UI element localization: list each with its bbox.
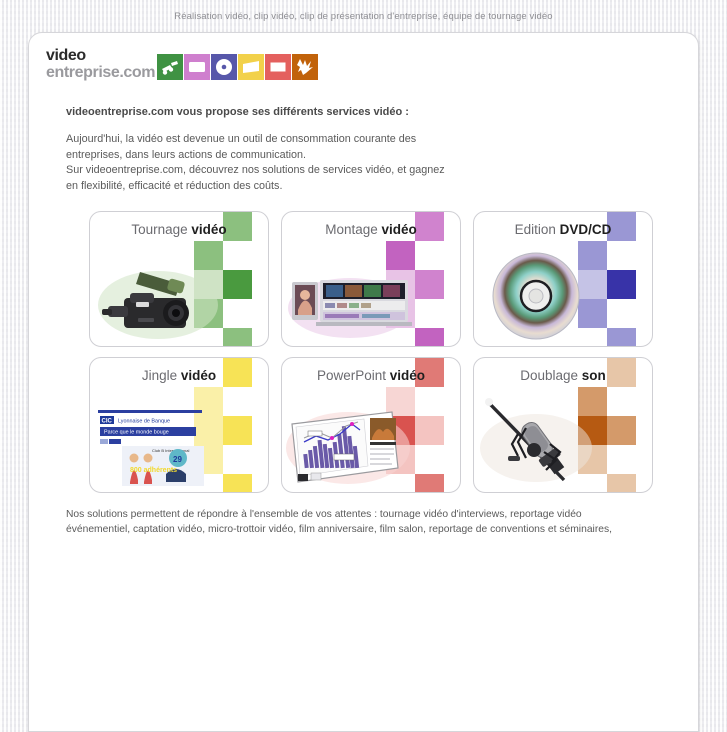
svg-text:CIC: CIC [102,419,113,425]
service-card-edition-dvd-cd[interactable]: Edition DVD/CD [473,211,653,347]
checker-square [415,270,444,299]
content-panel: video entreprise.com videoe [28,32,699,732]
feather-icon [292,54,318,80]
checker-square [223,328,252,347]
svg-text:Parce que le monde bouge: Parce que le monde bouge [104,430,169,436]
powerpoint-chart-photo [286,396,414,488]
intro-block: videoentreprise.com vous propose ses dif… [66,106,566,194]
logo-line-entreprise: entreprise.com [46,65,155,81]
checker-square [607,474,636,493]
intro-line: Aujourd'hui, la vidéo est devenue un out… [66,132,566,148]
intro-line: en flexibilité, efficacité et réduction … [66,179,566,195]
service-card-montage-video[interactable]: Montage vidéo [281,211,461,347]
card-title-bold: vidéo [181,368,216,383]
studio-microphone-photo [478,396,606,488]
service-card-doublage-son[interactable]: Doublage son [473,357,653,493]
intro-heading: videoentreprise.com vous propose ses dif… [66,106,566,118]
footer-description: Nos solutions permettent de répondre à l… [66,508,666,537]
screen-icon [265,54,291,80]
logo-wordmark: video entreprise.com [46,48,155,81]
intro-line: entreprises, dans leurs actions de commu… [66,148,566,164]
footer-line: événementiel, captation vidéo, micro-tro… [66,523,666,538]
checker-square [607,328,636,347]
editing-suite-photo [286,250,414,342]
checker-square [223,270,252,299]
card-title-normal: Tournage [131,222,191,237]
checker-square [415,328,444,347]
camcorder-photo [94,250,222,342]
service-card-jingle-video[interactable]: Jingle vidéo CIC Lyonnaise de Banque Par… [89,357,269,493]
camcorder-icon [157,54,183,80]
card-title: Doublage son [474,358,652,383]
service-card-powerpoint-video[interactable]: PowerPoint vidéo [281,357,461,493]
svg-text:29: 29 [173,455,182,464]
card-title-normal: Doublage [520,368,582,383]
tilted-screen-icon [238,54,264,80]
logo-icon-strip [157,54,318,80]
svg-text:Lyonnaise de Banque: Lyonnaise de Banque [118,419,170,425]
page-tagline: Réalisation vidéo, clip vidéo, clip de p… [174,11,552,22]
intro-paragraph: Aujourd'hui, la vidéo est devenue un out… [66,132,566,194]
card-title-bold: DVD/CD [560,222,612,237]
card-title-bold: vidéo [382,222,417,237]
service-card-tournage-video[interactable]: Tournage vidéo [89,211,269,347]
services-grid: Tournage vidéo [89,211,654,493]
dvd-disc-photo [478,250,606,342]
disc-icon [211,54,237,80]
card-title-normal: Edition [515,222,560,237]
card-title-bold: vidéo [390,368,425,383]
checker-square [607,270,636,299]
card-title: Montage vidéo [282,212,460,237]
monitor-icon [184,54,210,80]
checker-square [415,416,444,445]
tagline-bar: Réalisation vidéo, clip vidéo, clip de p… [0,0,727,32]
intro-line: Sur videoentreprise.com, découvrez nos s… [66,163,566,179]
checker-square [607,416,636,445]
site-logo[interactable]: video entreprise.com [46,48,318,81]
svg-text:800 adhérents: 800 adhérents [130,467,177,474]
card-title-bold: vidéo [191,222,226,237]
card-title-normal: Jingle [142,368,181,383]
card-title: Edition DVD/CD [474,212,652,237]
footer-line: Nos solutions permettent de répondre à l… [66,508,666,523]
card-title-bold: son [582,368,606,383]
logo-line-video: video [46,48,155,64]
card-title-normal: PowerPoint [317,368,390,383]
checker-square [223,474,252,493]
bank-slide-photo: CIC Lyonnaise de Banque Parce que le mon… [94,396,222,488]
checker-square [223,416,252,445]
card-title: Jingle vidéo [90,358,268,383]
card-title-normal: Montage [325,222,381,237]
checker-square [415,474,444,493]
card-title: PowerPoint vidéo [282,358,460,383]
card-title: Tournage vidéo [90,212,268,237]
